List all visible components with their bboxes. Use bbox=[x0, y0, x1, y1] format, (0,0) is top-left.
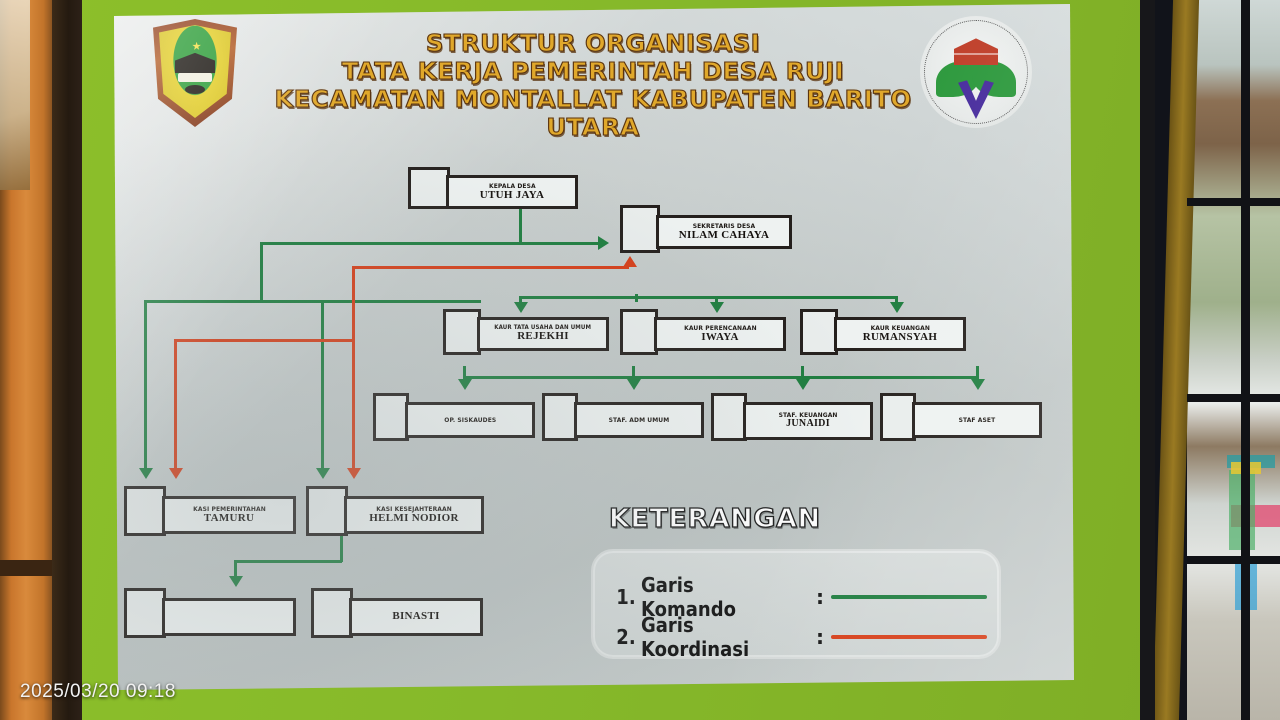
organization-chart-board: STRUKTUR ORGANISASI TATA KERJA PEMERINTA… bbox=[108, 4, 1074, 690]
line-staff-feed-1 bbox=[463, 366, 466, 378]
node-staf-keuangan[interactable]: STAF. KEUANGAN JUNAIDI bbox=[711, 393, 873, 441]
arrow-staf-keuangan bbox=[796, 379, 810, 390]
line-staff-feed-3 bbox=[801, 366, 804, 378]
node-position: KASI PEMERINTAHAN bbox=[193, 506, 266, 513]
node-position: SEKRETARIS DESA bbox=[693, 223, 756, 230]
legend-line-koordinasi bbox=[831, 635, 987, 639]
arrow-kasi-kesejahteraan bbox=[316, 468, 330, 479]
title-line-1: STRUKTUR ORGANISASI bbox=[259, 30, 927, 58]
legend-colon: : bbox=[809, 585, 831, 609]
node-bottom-left-empty[interactable] bbox=[124, 588, 296, 638]
window-outdoor-view bbox=[1187, 0, 1280, 720]
node-kepala-desa[interactable]: KEPALA DESA UTUH JAYA bbox=[408, 167, 578, 209]
window bbox=[1155, 0, 1280, 720]
photo-scene: STRUKTUR ORGANISASI TATA KERJA PEMERINTA… bbox=[0, 0, 1280, 720]
node-name: HELMI NODIOR bbox=[369, 513, 458, 525]
title-line-2: TATA KERJA PEMERINTAH DESA RUJI bbox=[259, 58, 927, 86]
door-glass-pane bbox=[0, 0, 30, 190]
line-staff-bus bbox=[463, 376, 979, 379]
legend-number: 1. bbox=[616, 585, 639, 609]
arrow-kasi-pemerintahan bbox=[139, 468, 153, 479]
title-line-3: KECAMATAN MONTALLAT KABUPATEN BARITO UTA… bbox=[259, 86, 927, 142]
line-staff-feed-2 bbox=[632, 366, 635, 378]
node-name: NILAM CAHAYA bbox=[679, 230, 770, 242]
photo-timestamp: 2025/03/20 09:18 bbox=[20, 681, 176, 703]
legend-number: 2. bbox=[616, 625, 639, 649]
node-position: KAUR PERENCANAAN bbox=[684, 325, 757, 332]
node-name: RUMANSYAH bbox=[863, 332, 937, 344]
node-position: KASI KESEJAHTERAAN bbox=[376, 506, 452, 513]
node-name: UTUH JAYA bbox=[480, 190, 545, 202]
line-koordinasi-left-drop bbox=[174, 339, 177, 470]
line-kepala-stem bbox=[519, 205, 522, 244]
window-mullion-horizontal bbox=[1187, 556, 1280, 564]
node-kaur-keuangan[interactable]: KAUR KEUANGAN RUMANSYAH bbox=[800, 309, 966, 355]
node-kasi-kesejahteraan[interactable]: KASI KESEJAHTERAAN HELMI NODIOR bbox=[306, 486, 484, 536]
window-mullion-horizontal bbox=[1187, 394, 1280, 402]
line-koordinasi-branch bbox=[174, 339, 355, 342]
node-position: STAF. ADM UMUM bbox=[609, 417, 670, 424]
line-komando-to-sekretaris bbox=[260, 242, 600, 245]
legend-line-komando bbox=[831, 595, 987, 599]
node-position: STAF. KEUANGAN bbox=[779, 412, 838, 419]
arrow-to-sekretaris bbox=[598, 236, 609, 250]
line-green-to-kasi-kesejahteraan bbox=[321, 300, 324, 470]
arrow-staf-adm-umum bbox=[627, 379, 641, 390]
arrow-op-siskaudes bbox=[458, 379, 472, 390]
line-kaur-bus bbox=[519, 296, 896, 299]
line-green-riser-a bbox=[260, 242, 263, 302]
arrow-koordinasi-to-sekretaris bbox=[623, 256, 637, 267]
kementerian-desa-logo-icon bbox=[920, 16, 1032, 128]
legend-item-koordinasi: 2. Garis Koordinasi : bbox=[615, 613, 987, 661]
line-koordinasi-top bbox=[352, 266, 629, 269]
line-kesejahteraan-stem bbox=[340, 534, 343, 562]
kabupaten-emblem-icon bbox=[153, 19, 237, 127]
arrow-koordinasi-pemerintahan bbox=[169, 468, 183, 479]
line-binasti-feed bbox=[234, 560, 342, 563]
arrow-staf-aset bbox=[971, 379, 985, 390]
window-mullion-horizontal bbox=[1187, 198, 1280, 206]
node-kasi-pemerintahan[interactable]: KASI PEMERINTAHAN TAMURU bbox=[124, 486, 296, 536]
node-position: KAUR TATA USAHA DAN UMUM bbox=[495, 325, 592, 331]
node-kaur-perencanaan[interactable]: KAUR PERENCANAAN IWAYA bbox=[620, 309, 786, 355]
legend-label: Garis Koordinasi bbox=[641, 613, 792, 661]
node-position: OP. SISKAUDES bbox=[444, 417, 496, 424]
node-sekretaris-desa[interactable]: SEKRETARIS DESA NILAM CAHAYA bbox=[620, 205, 792, 253]
legend-heading: KETERANGAN bbox=[609, 504, 821, 534]
node-position: KAUR KEUANGAN bbox=[870, 325, 929, 332]
node-name: IWAYA bbox=[701, 332, 738, 344]
node-kaur-tata-usaha-dan-umum[interactable]: KAUR TATA USAHA DAN UMUM REJEKHI bbox=[443, 309, 609, 355]
line-staff-feed-4 bbox=[976, 366, 979, 378]
line-green-to-kasi-pemerintahan bbox=[144, 300, 147, 470]
arrow-koordinasi-kesejahteraan bbox=[347, 468, 361, 479]
board-title: STRUKTUR ORGANISASI TATA KERJA PEMERINTA… bbox=[278, 30, 908, 142]
line-koordinasi-riser bbox=[352, 266, 355, 472]
node-staf-aset[interactable]: STAF ASET bbox=[880, 393, 1042, 441]
legend-colon: : bbox=[809, 625, 831, 649]
legend-box: 1. Garis Komando : 2. Garis Koordinasi : bbox=[591, 549, 1001, 659]
node-binasti[interactable]: BINASTI bbox=[311, 588, 483, 638]
node-name: REJEKHI bbox=[517, 331, 569, 343]
line-green-spread bbox=[144, 300, 481, 303]
node-position: STAF ASET bbox=[959, 417, 996, 424]
node-op-siskaudes[interactable]: OP. SISKAUDES bbox=[373, 393, 535, 441]
node-name: TAMURU bbox=[204, 513, 254, 525]
window-mullion-vertical bbox=[1241, 0, 1250, 720]
node-name: BINASTI bbox=[392, 611, 439, 623]
arrow-binasti bbox=[229, 576, 243, 587]
door-gap-shadow bbox=[52, 0, 82, 720]
node-name: JUNAIDI bbox=[786, 419, 830, 430]
node-position: KEPALA DESA bbox=[489, 183, 536, 190]
node-staf-adm-umum[interactable]: STAF. ADM UMUM bbox=[542, 393, 704, 441]
